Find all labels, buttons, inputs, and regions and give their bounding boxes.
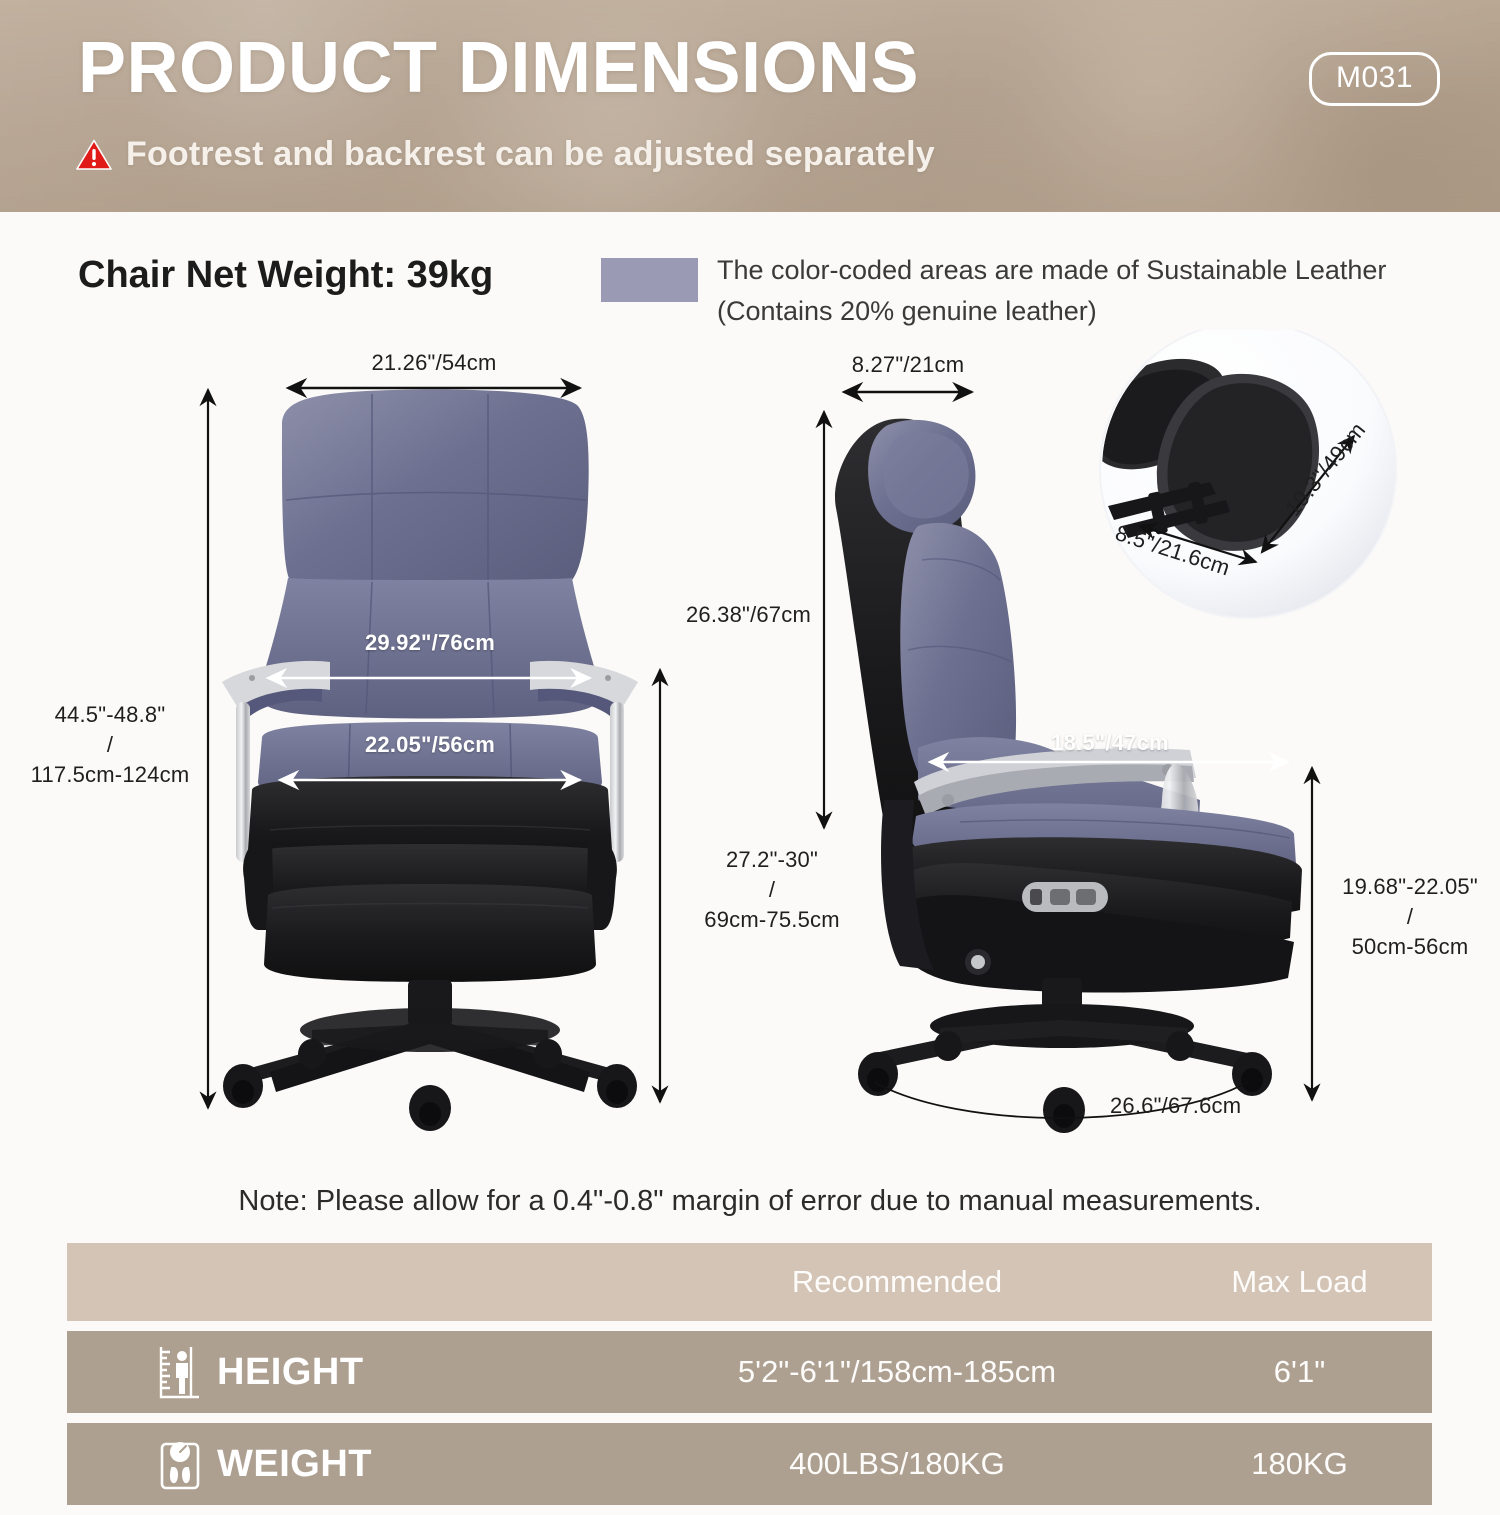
chair-net-weight-label: Chair Net Weight: 39kg (78, 254, 493, 297)
seat-height-label-line-1: 19.68"-22.05" (1322, 872, 1498, 902)
seat-height-label: 19.68"-22.05"/50cm-56cm (1322, 872, 1498, 962)
height-row-title: HEIGHT (217, 1351, 364, 1394)
spec-row-height: HEIGHT 5'2"-6'1"/158cm-185cm 6'1" (67, 1331, 1432, 1413)
height-max-load-value: 6'1" (1167, 1354, 1432, 1390)
backrest-height-label: 26.38"/67cm (686, 602, 811, 628)
front-view-chair-illustration (222, 390, 638, 1131)
weight-scale-icon (157, 1436, 203, 1492)
front-width-label: 21.26"/54cm (288, 350, 580, 376)
header-cell-max-load: Max Load (1167, 1264, 1432, 1300)
legend-line-1: The color-coded areas are made of Sustai… (717, 250, 1477, 291)
weight-max-load-value: 180KG (1167, 1446, 1432, 1482)
leather-legend-text: The color-coded areas are made of Sustai… (717, 250, 1477, 332)
height-person-ruler-icon (157, 1344, 203, 1400)
subtitle-text: Footrest and backrest can be adjusted se… (126, 135, 935, 174)
footrest-detail-inset (1090, 330, 1396, 618)
front-overall-height-label: 44.5"-48.8"/117.5cm-124cm (20, 700, 200, 790)
weight-row-title: WEIGHT (217, 1443, 372, 1486)
height-row-label-cell: HEIGHT (67, 1344, 627, 1400)
base-diameter-label: 26.6"/67.6cm (1110, 1093, 1241, 1119)
product-dimensions-infographic: PRODUCT DIMENSIONS Footrest and backrest… (0, 0, 1500, 1500)
leather-color-swatch (601, 258, 698, 302)
front-overall-height-label-line-2: / (20, 730, 200, 760)
header-cell-recommended: Recommended (627, 1264, 1167, 1300)
headrest-depth-label: 8.27"/21cm (838, 352, 978, 378)
seat-depth-overall-label-line-1: 27.2"-30" (672, 845, 872, 875)
warning-triangle-icon (76, 139, 112, 171)
seat-width-label: 22.05"/56cm (290, 732, 570, 758)
spec-table-header-row: Recommended Max Load (67, 1243, 1432, 1321)
front-overall-height-label-line-3: 117.5cm-124cm (20, 760, 200, 790)
front-overall-height-label-line-1: 44.5"-48.8" (20, 700, 200, 730)
seat-height-label-line-2: / (1322, 902, 1498, 932)
subtitle-row: Footrest and backrest can be adjusted se… (76, 135, 935, 174)
seat-depth-label: 18.5"/47cm (1000, 730, 1220, 756)
seat-height-label-line-3: 50cm-56cm (1322, 932, 1498, 962)
weight-row-label-cell: WEIGHT (67, 1436, 627, 1492)
weight-recommended-value: 400LBS/180KG (627, 1446, 1167, 1482)
backrest-width-label: 29.92"/76cm (290, 630, 570, 656)
page-title: PRODUCT DIMENSIONS (78, 30, 919, 106)
diagram-svg (0, 330, 1500, 1190)
dimension-diagram: 21.26"/54cm 44.5"-48.8"/117.5cm-124cm 29… (0, 330, 1500, 1190)
spec-row-weight: WEIGHT 400LBS/180KG 180KG (67, 1423, 1432, 1505)
seat-depth-overall-label-line-3: 69cm-75.5cm (672, 905, 872, 935)
header-banner: PRODUCT DIMENSIONS Footrest and backrest… (0, 0, 1500, 212)
seat-depth-overall-label-line-2: / (672, 875, 872, 905)
legend-line-2: (Contains 20% genuine leather) (717, 291, 1477, 332)
model-badge: M031 (1309, 52, 1440, 106)
spec-table: Recommended Max Load HEIGHT 5'2"-6'1"/15… (67, 1243, 1432, 1515)
seat-depth-overall-label: 27.2"-30"/69cm-75.5cm (672, 845, 872, 935)
measurement-note: Note: Please allow for a 0.4"-0.8" margi… (0, 1185, 1500, 1218)
height-recommended-value: 5'2"-6'1"/158cm-185cm (627, 1354, 1167, 1390)
